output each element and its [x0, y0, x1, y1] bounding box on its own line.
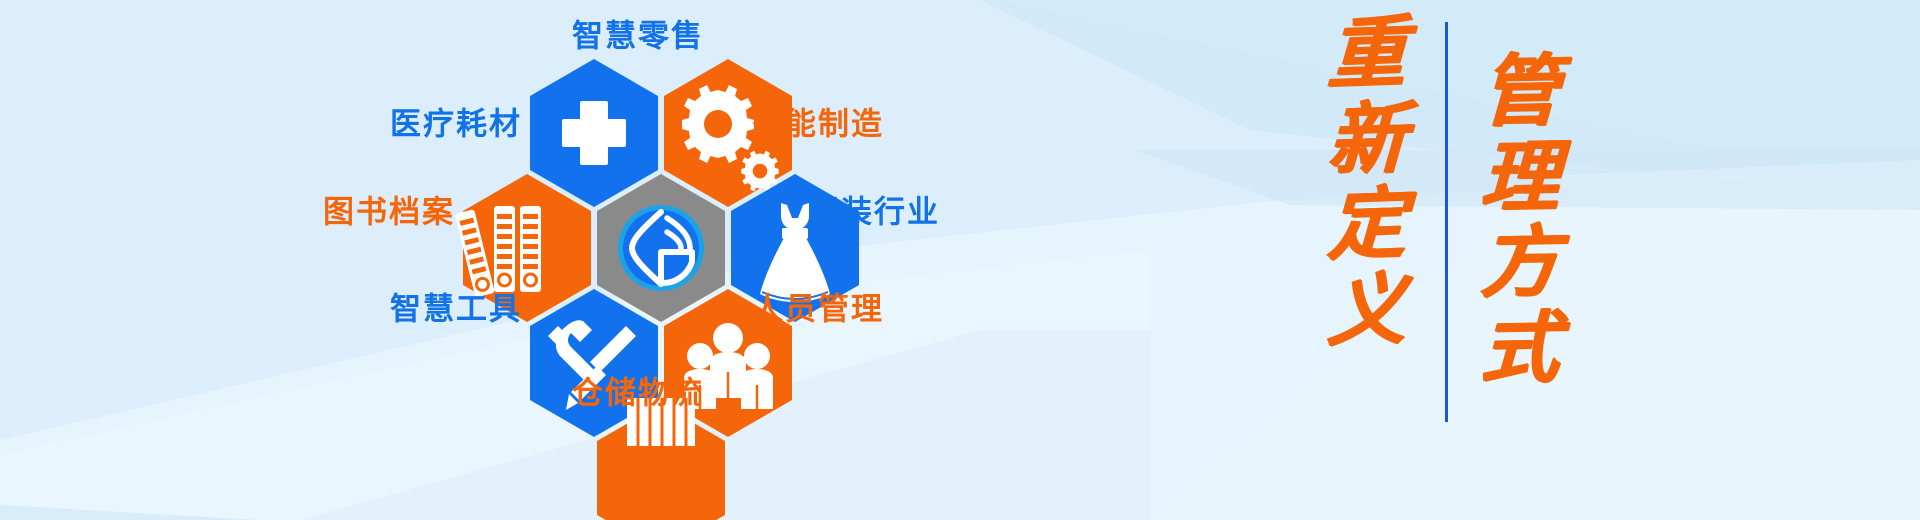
calligraphy-column-left: 重 新 定 义: [1312, 14, 1422, 350]
calligraphy-block: 重 新 定 义 管 理 方 式: [1290, 0, 1620, 520]
hex-center-logo: [597, 174, 725, 322]
label-smart-tools: 智慧工具: [390, 294, 522, 325]
calligraphy-char: 管: [1480, 51, 1561, 132]
label-apparel-industry: 服装行业: [808, 197, 940, 228]
label-library-archives: 图书档案: [323, 197, 455, 228]
hex-medical-supplies: [530, 59, 658, 207]
label-personnel-management: 人员管理: [752, 294, 884, 325]
label-smart-manufacturing: 智能制造: [752, 109, 884, 140]
calligraphy-char: 定: [1327, 184, 1408, 266]
calligraphy-char: 新: [1327, 98, 1408, 180]
calligraphy-divider: [1445, 22, 1448, 422]
calligraphy-column-right: 管 理 方 式: [1465, 52, 1575, 388]
hexagon-cluster: [0, 0, 1100, 520]
label-warehouse-logistics: 仓储物流: [572, 378, 704, 409]
calligraphy-char: 重: [1327, 13, 1408, 95]
calligraphy-char: 方: [1480, 222, 1561, 303]
calligraphy-char: 义: [1327, 269, 1408, 351]
calligraphy-char: 理: [1480, 137, 1561, 218]
label-smart-retail: 智慧零售: [572, 21, 704, 52]
calligraphy-char: 式: [1480, 308, 1561, 389]
banner-stage: 智慧零售 医疗耗材 智能制造 图书档案 服装行业 智慧工具 人员管理 仓储物流 …: [0, 0, 1920, 520]
label-medical-supplies: 医疗耗材: [390, 109, 522, 140]
